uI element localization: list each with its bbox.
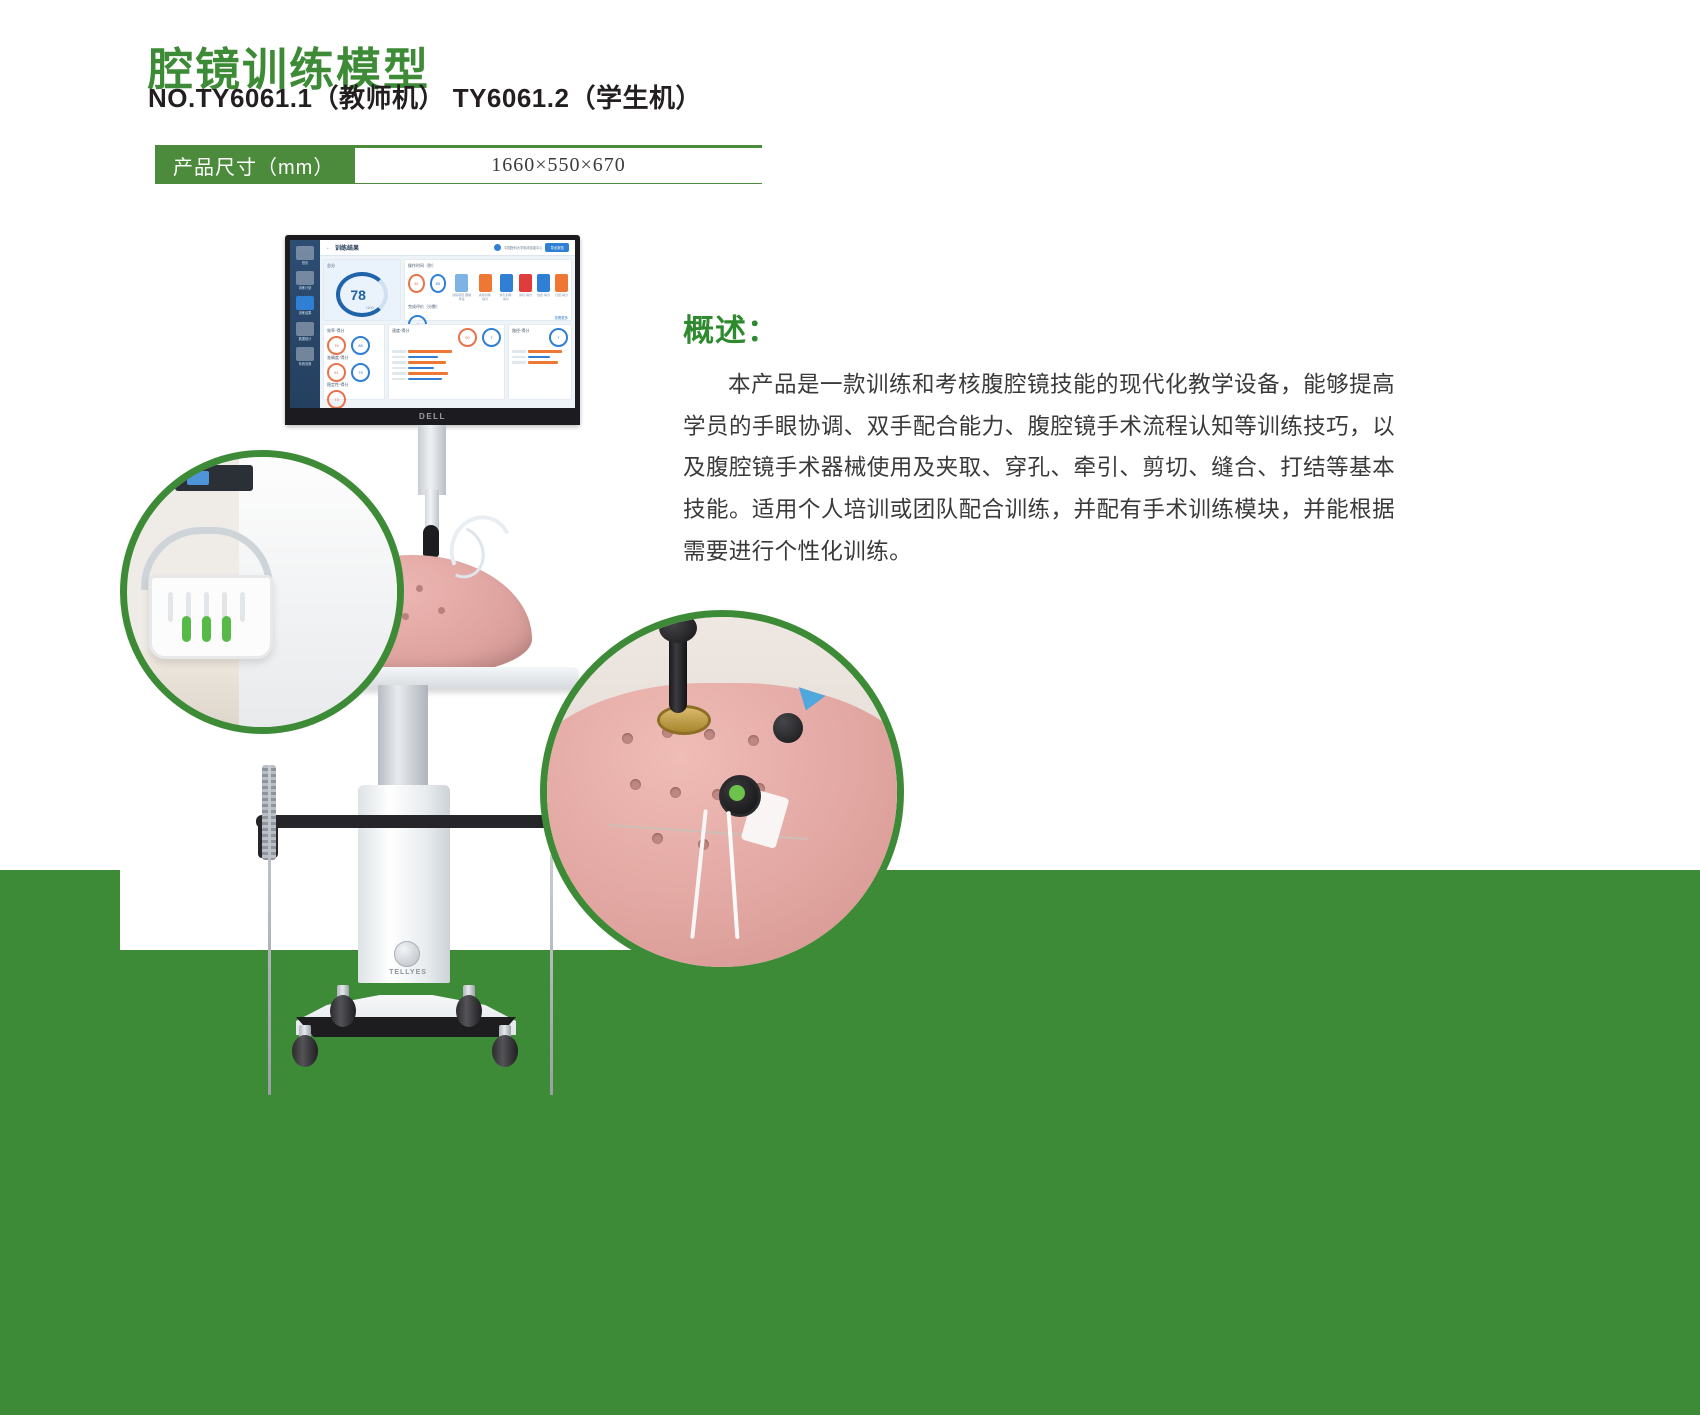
metric-gauge: 92 xyxy=(408,274,425,293)
metric-group-title: 完成评价（分数） xyxy=(408,304,568,310)
abdominal-pad-ports-detail xyxy=(540,610,904,974)
bar-row xyxy=(392,367,501,370)
bar-chart-card-center: 速度·得分 90 7 xyxy=(388,324,505,400)
sidebar-item-label: 训练结果 xyxy=(290,312,320,315)
software-content: 总分 78 /100 操作时间（秒） 92 85 xyxy=(320,256,575,408)
metric-gauge: 90 xyxy=(458,328,477,347)
training-chip[interactable] xyxy=(455,274,468,292)
score-gauge: 78 /100 xyxy=(336,272,388,317)
bar-row xyxy=(512,361,568,364)
training-chip-label: 夹持训练·得分 xyxy=(477,293,493,301)
training-chip-label: 缝合·得分 xyxy=(537,293,550,297)
training-chip-label: 剪切·得分 xyxy=(519,293,532,297)
bar-chart xyxy=(392,350,501,380)
training-chip[interactable] xyxy=(537,274,550,292)
metric-gauge: 73 xyxy=(327,390,346,408)
metric-group-title: 路径·得分 xyxy=(512,328,529,334)
sidebar-item-statistics[interactable] xyxy=(296,322,314,336)
training-chip-label: 打结·得分 xyxy=(555,293,568,297)
more-link[interactable]: 查看更多 xyxy=(554,315,568,320)
caster-wheel xyxy=(292,1025,318,1067)
sidebar-item-settings[interactable] xyxy=(296,347,314,361)
cart-crossbar xyxy=(256,815,556,828)
accessory-basket-detail xyxy=(120,450,404,734)
sidebar-item-plan[interactable] xyxy=(296,271,314,285)
spec-table: 产品尺寸（mm） 1660×550×670 xyxy=(155,145,762,184)
training-chip[interactable] xyxy=(479,274,492,292)
table-row: 产品尺寸（mm） 1660×550×670 xyxy=(155,148,762,184)
metric-gauge: 7 xyxy=(549,328,568,347)
training-chip[interactable] xyxy=(519,274,532,292)
instrument-shaft-left xyxy=(268,765,271,1095)
monitor-bezel: DELL xyxy=(285,408,580,425)
score-card-title: 总分 xyxy=(327,263,397,269)
training-chip-label: 穿孔训练·得分 xyxy=(498,293,514,301)
summary-row: 总分 78 /100 操作时间（秒） 92 85 xyxy=(323,259,572,321)
scanner-lens xyxy=(187,471,209,485)
metric-group-title: 准确度·得分 xyxy=(327,355,381,361)
training-chip[interactable] xyxy=(500,274,513,292)
sidebar-item-label: 首页 xyxy=(290,262,320,265)
score-denominator: /100 xyxy=(366,305,374,310)
bar-row xyxy=(392,350,501,353)
monitor-arm xyxy=(418,425,446,495)
metric-gauge: 81 xyxy=(327,363,346,382)
bar-card-header: 路径·得分 7 xyxy=(512,328,568,347)
back-arrow-icon[interactable]: ← xyxy=(326,245,331,251)
abdominal-pad-closeup xyxy=(540,683,904,973)
bar-chart xyxy=(512,350,568,364)
caster-wheel xyxy=(492,1025,518,1067)
bar-row xyxy=(392,378,501,381)
bar-chart-card-right: 路径·得分 7 xyxy=(508,324,572,400)
sidebar-item-label: 系统设置 xyxy=(290,363,320,366)
metric-gauges: 73 xyxy=(327,390,381,408)
metric-group-title: 操作时间（秒） xyxy=(408,263,568,269)
monitor-screen: 首页 训练计划 训练结果 数据统计 系统设置 ← 训练结果 中国医科大学临床技能… xyxy=(290,240,575,408)
scope-grip-knob xyxy=(659,613,697,643)
training-chip-label: 训练项目·器械传递 xyxy=(451,293,472,301)
metric-group-title: 效率·得分 xyxy=(327,328,381,334)
avatar xyxy=(494,244,501,251)
bar-row xyxy=(512,356,568,359)
bar-row xyxy=(512,350,568,353)
cart-brand-label: TELLYES xyxy=(378,969,438,976)
metric-gauges: 76 88 xyxy=(327,336,381,355)
spec-value-dimensions: 1660×550×670 xyxy=(355,148,762,183)
metric-group-title: 稳定性·得分 xyxy=(327,382,381,388)
metrics-card: 操作时间（秒） 92 85 训练项目·器械传递 夹持训练 xyxy=(404,259,572,321)
sidebar-item-label: 数据统计 xyxy=(290,338,320,341)
monitor: 首页 训练计划 训练结果 数据统计 系统设置 ← 训练结果 中国医科大学临床技能… xyxy=(285,235,580,425)
spec-label-dimensions: 产品尺寸（mm） xyxy=(155,148,355,183)
software-page-title: 训练结果 xyxy=(335,243,359,252)
model-number-line: NO.TY6061.1（教师机） TY6061.2（学生机） xyxy=(148,78,702,115)
accessory-basket xyxy=(149,575,273,659)
software-topbar: ← 训练结果 中国医科大学临床技能中心 导出报告 xyxy=(320,240,575,256)
caster-wheel xyxy=(330,985,356,1027)
score-value: 78 xyxy=(350,288,366,302)
software-sidebar: 首页 训练计划 训练结果 数据统计 系统设置 xyxy=(290,240,320,408)
sensor-indicator-light xyxy=(729,785,745,801)
detail-row: 效率·得分 76 88 准确度·得分 81 79 稳定性·得分 xyxy=(323,324,572,400)
metric-gauges: 81 79 xyxy=(327,363,381,382)
metric-gauge: 76 xyxy=(327,336,346,355)
metric-gauge: 79 xyxy=(351,363,370,382)
bar-card-header: 速度·得分 90 7 xyxy=(392,328,501,347)
catalog-page: 腔镜训练模型 NO.TY6061.1（教师机） TY6061.2（学生机） 产品… xyxy=(0,0,1700,1415)
cart-base-trim xyxy=(296,1017,516,1037)
user-name: 中国医科大学临床技能中心 xyxy=(504,246,542,250)
metric-gauge: 88 xyxy=(351,336,370,355)
sidebar-item-label: 训练计划 xyxy=(290,287,320,290)
sidebar-item-home[interactable] xyxy=(296,246,314,260)
metric-gauge: 7 xyxy=(482,328,501,347)
bar-row xyxy=(392,361,501,364)
caster-wheel xyxy=(456,985,482,1027)
user-info: 中国医科大学临床技能中心 导出报告 xyxy=(494,243,569,252)
score-card: 总分 78 /100 xyxy=(323,259,401,321)
cart-logo-emblem xyxy=(394,941,420,967)
bar-row xyxy=(392,356,501,359)
product-photo: 首页 训练计划 训练结果 数据统计 系统设置 ← 训练结果 中国医科大学临床技能… xyxy=(120,225,1080,1345)
bar-row xyxy=(392,372,501,375)
export-report-button[interactable]: 导出报告 xyxy=(545,243,569,252)
trocar-port-black xyxy=(773,713,803,743)
training-chip[interactable] xyxy=(555,274,568,292)
metric-group-title: 速度·得分 xyxy=(392,328,409,334)
metric-gauge: 85 xyxy=(430,274,447,293)
metric-gauges: 92 85 训练项目·器械传递 夹持训练·得分 xyxy=(408,274,568,301)
metric-card-left: 效率·得分 76 88 准确度·得分 81 79 稳定性·得分 xyxy=(323,324,385,400)
sidebar-item-results[interactable] xyxy=(296,296,314,310)
monitor-brand-label: DELL xyxy=(419,412,446,421)
